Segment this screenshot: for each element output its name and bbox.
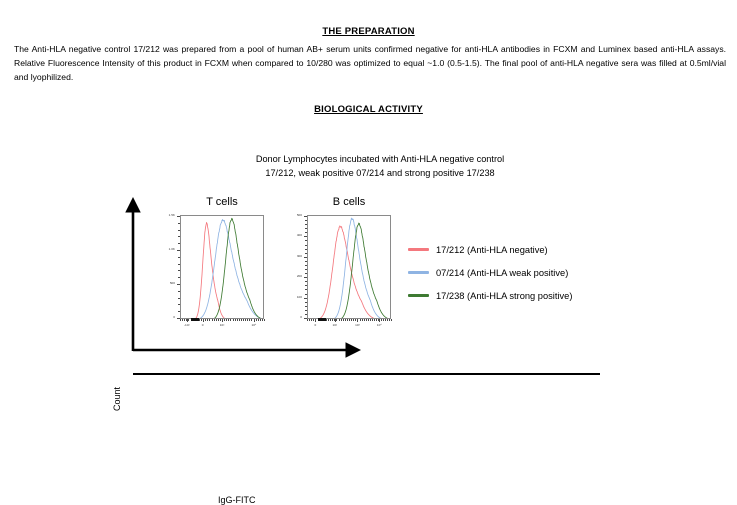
y-axis-minor-tick [305, 224, 307, 225]
y-axis-minor-tick [305, 289, 307, 290]
y-axis-minor-tick [305, 228, 307, 229]
x-axis-minor-tick [222, 319, 223, 321]
y-axis-tick [304, 257, 307, 258]
x-axis-minor-tick [186, 319, 187, 321]
x-axis-minor-tick [228, 319, 229, 321]
x-axis-minor-tick [224, 319, 225, 321]
x-axis-minor-tick [334, 319, 335, 321]
y-axis-minor-tick [305, 249, 307, 250]
legend-row: 17/212 (Anti-HLA negative) [408, 238, 572, 261]
biological-activity-section-heading: BIOLOGICAL ACTIVITY [0, 104, 737, 115]
x-axis-minor-tick [355, 319, 356, 321]
x-axis-minor-tick [328, 319, 329, 321]
y-tick-label: 1.5K [158, 214, 175, 217]
y-axis-minor-tick [305, 265, 307, 266]
panel-t-cells-title: T cells [180, 196, 264, 208]
x-axis-minor-tick [389, 319, 390, 321]
x-axis-minor-tick [214, 319, 215, 321]
panel-b-cells: B cells 5004003002001000 010²10³10⁴ [307, 215, 391, 319]
y-axis-minor-tick [305, 240, 307, 241]
x-axis-minor-tick [243, 319, 244, 321]
x-axis-minor-tick [391, 319, 392, 321]
x-axis-minor-tick [385, 319, 386, 321]
x-axis-minor-tick [247, 319, 248, 321]
x-tick-label: 10⁴ [245, 324, 263, 327]
x-axis-minor-tick [387, 319, 388, 321]
y-axis-minor-tick [305, 269, 307, 270]
x-axis-minor-tick [220, 319, 221, 321]
x-axis-minor-tick [336, 319, 337, 321]
x-axis-minor-tick [383, 319, 384, 321]
y-axis-minor-tick [178, 311, 180, 312]
x-axis-minor-tick [349, 319, 350, 321]
y-axis-minor-tick [178, 304, 180, 305]
y-axis-minor-tick [178, 264, 180, 265]
figure-caption-line-1: Donor Lymphocytes incubated with Anti-HL… [170, 152, 590, 166]
x-axis-minor-tick [216, 319, 217, 321]
y-axis-minor-tick [305, 232, 307, 233]
legend-row: 17/238 (Anti-HLA strong positive) [408, 284, 572, 307]
y-tick-label: 300 [285, 255, 302, 258]
x-axis-minor-tick [239, 319, 240, 321]
preparation-paragraph: The Anti-HLA negative control 17/212 was… [14, 42, 726, 84]
figure-legend: 17/212 (Anti-HLA negative)07/214 (Anti-H… [408, 238, 572, 307]
x-axis-minor-tick [370, 319, 371, 321]
panel-b-cells-title: B cells [307, 196, 391, 208]
histogram-trace [308, 218, 391, 319]
x-axis-minor-tick [313, 319, 314, 321]
y-tick-label: 400 [285, 234, 302, 237]
x-axis-minor-tick [251, 319, 252, 321]
x-axis-minor-tick [364, 319, 365, 321]
y-axis-minor-tick [305, 253, 307, 254]
x-axis-minor-tick [347, 319, 348, 321]
x-axis-minor-tick [332, 319, 333, 321]
y-axis-minor-tick [178, 270, 180, 271]
x-axis-minor-tick [376, 319, 377, 321]
plot-frame-t-cells [180, 215, 264, 319]
y-axis-minor-tick [178, 236, 180, 237]
y-axis-minor-tick [305, 220, 307, 221]
x-axis-minor-tick [315, 319, 316, 321]
x-axis-minor-tick [212, 319, 213, 321]
y-axis-minor-tick [305, 310, 307, 311]
y-axis-tick [177, 216, 180, 217]
x-axis-minor-tick [343, 319, 344, 321]
x-axis-minor-tick [357, 319, 358, 321]
x-axis-minor-tick [345, 319, 346, 321]
x-tick-label: 10² [326, 324, 344, 327]
y-axis-minor-tick [178, 298, 180, 299]
x-axis-minor-tick [188, 319, 189, 321]
x-tick-label: 10³ [348, 324, 366, 327]
legend-label: 07/214 (Anti-HLA weak positive) [436, 268, 568, 278]
figure-caption: Donor Lymphocytes incubated with Anti-HL… [170, 152, 590, 180]
histogram-trace [181, 218, 264, 319]
y-tick-label: 200 [285, 275, 302, 278]
x-axis-minor-tick [235, 319, 236, 321]
preparation-section-heading: THE PREPARATION [0, 26, 737, 37]
legend-label: 17/238 (Anti-HLA strong positive) [436, 291, 572, 301]
histogram-trace [308, 223, 391, 319]
x-axis-minor-tick [230, 319, 231, 321]
outer-x-axis-label: IgG-FITC [218, 495, 256, 505]
x-tick-label: 10² [213, 324, 231, 327]
y-axis-minor-tick [305, 261, 307, 262]
x-axis-minor-tick [237, 319, 238, 321]
y-tick-label: 500 [285, 214, 302, 217]
x-axis-minor-tick [362, 319, 363, 321]
x-axis-minor-tick [203, 319, 204, 321]
x-axis-minor-tick [207, 319, 208, 321]
x-axis-minor-tick [233, 319, 234, 321]
x-axis-minor-tick [241, 319, 242, 321]
y-axis-tick [304, 236, 307, 237]
figure-caption-line-2: 17/212, weak positive 07/214 and strong … [170, 166, 590, 180]
y-axis-minor-tick [305, 273, 307, 274]
x-axis-minor-tick [378, 319, 379, 321]
x-axis-minor-tick [262, 319, 263, 321]
histogram-curves-b-cells [308, 216, 391, 319]
x-axis-minor-tick [307, 319, 308, 321]
x-tick-label: 0 [306, 324, 324, 327]
y-tick-label: 0 [285, 316, 302, 319]
y-axis-minor-tick [178, 277, 180, 278]
x-axis-minor-tick [256, 319, 257, 321]
legend-row: 07/214 (Anti-HLA weak positive) [408, 261, 572, 284]
y-axis-minor-tick [178, 257, 180, 258]
x-axis-minor-tick [264, 319, 265, 321]
baseline-event-marker [191, 318, 199, 321]
x-axis-minor-tick [381, 319, 382, 321]
plot-frame-b-cells [307, 215, 391, 319]
y-axis-minor-tick [305, 314, 307, 315]
x-axis-minor-tick [218, 319, 219, 321]
x-axis-minor-tick [351, 319, 352, 321]
y-tick-label: 0 [158, 316, 175, 319]
y-axis-minor-tick [178, 243, 180, 244]
y-axis-minor-tick [178, 223, 180, 224]
y-axis-minor-tick [305, 302, 307, 303]
panel-t-cells: T cells 1.5K1.0K5000 -10²010²10⁴ [180, 215, 264, 319]
x-axis-minor-tick [360, 319, 361, 321]
y-axis-tick [177, 284, 180, 285]
histogram-curves-t-cells [181, 216, 264, 319]
x-tick-label: 10⁴ [370, 324, 388, 327]
x-axis-minor-tick [254, 319, 255, 321]
y-axis-minor-tick [305, 285, 307, 286]
y-axis-minor-tick [305, 294, 307, 295]
x-tick-label: 0 [194, 324, 212, 327]
legend-color-swatch [408, 248, 429, 250]
x-axis-minor-tick [330, 319, 331, 321]
x-axis-minor-tick [366, 319, 367, 321]
legend-color-swatch [408, 271, 429, 273]
x-axis-minor-tick [341, 319, 342, 321]
x-axis-minor-tick [372, 319, 373, 321]
figure-block: Donor Lymphocytes incubated with Anti-HL… [0, 145, 737, 385]
legend-color-swatch [408, 294, 429, 296]
y-axis-tick [304, 277, 307, 278]
x-axis-minor-tick [205, 319, 206, 321]
x-axis-minor-tick [368, 319, 369, 321]
x-axis-minor-tick [201, 319, 202, 321]
x-axis-minor-tick [260, 319, 261, 321]
x-axis-minor-tick [339, 319, 340, 321]
x-axis-minor-tick [209, 319, 210, 321]
y-tick-label: 1.0K [158, 248, 175, 251]
x-axis-minor-tick [249, 319, 250, 321]
y-axis-minor-tick [178, 291, 180, 292]
legend-label: 17/212 (Anti-HLA negative) [436, 245, 548, 255]
y-axis-tick [304, 298, 307, 299]
x-axis-minor-tick [226, 319, 227, 321]
outer-y-axis-label: Count [112, 387, 122, 411]
x-axis-minor-tick [180, 319, 181, 321]
x-axis-minor-tick [258, 319, 259, 321]
y-tick-label: 100 [285, 296, 302, 299]
x-axis-minor-tick [245, 319, 246, 321]
x-axis-minor-tick [182, 319, 183, 321]
y-axis-minor-tick [305, 245, 307, 246]
y-tick-label: 500 [158, 282, 175, 285]
y-axis-minor-tick [305, 306, 307, 307]
y-axis-minor-tick [305, 281, 307, 282]
y-axis-tick [177, 250, 180, 251]
y-axis-minor-tick [178, 230, 180, 231]
footer-rule [133, 373, 600, 375]
x-axis-minor-tick [184, 319, 185, 321]
baseline-event-marker [318, 318, 326, 321]
x-axis-minor-tick [374, 319, 375, 321]
x-axis-minor-tick [311, 319, 312, 321]
x-axis-minor-tick [309, 319, 310, 321]
y-axis-tick [304, 216, 307, 217]
x-axis-minor-tick [353, 319, 354, 321]
